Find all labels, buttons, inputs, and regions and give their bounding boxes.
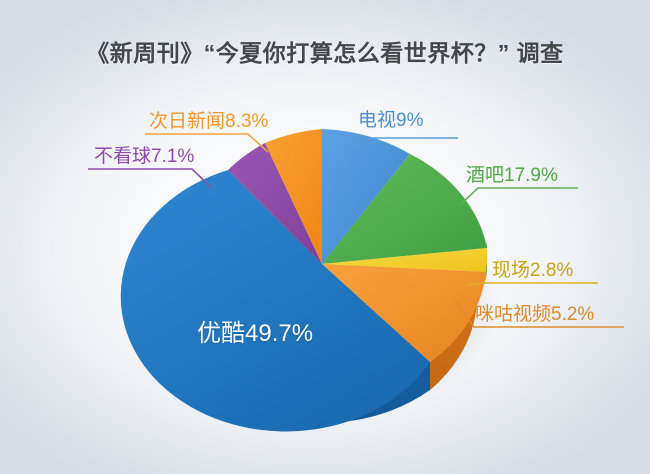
pie-label-bar: 酒吧17.9% bbox=[466, 160, 558, 187]
pie-label-migu: 咪咕视频5.2% bbox=[475, 299, 594, 326]
pie-label-tv: 电视9% bbox=[358, 105, 423, 132]
leader-line-bar bbox=[460, 188, 578, 205]
pie-label-youku: 优酷49.7% bbox=[197, 313, 313, 348]
chart-canvas: 《新周刊》“今夏你打算怎么看世界杯？” 调查 bbox=[0, 0, 650, 474]
pie-chart-graphic bbox=[0, 0, 650, 474]
pie-label-nowatch: 不看球7.1% bbox=[94, 141, 194, 168]
pie-label-nextday: 次日新闻8.3% bbox=[149, 106, 268, 133]
pie-label-onsite: 现场2.8% bbox=[492, 255, 573, 282]
